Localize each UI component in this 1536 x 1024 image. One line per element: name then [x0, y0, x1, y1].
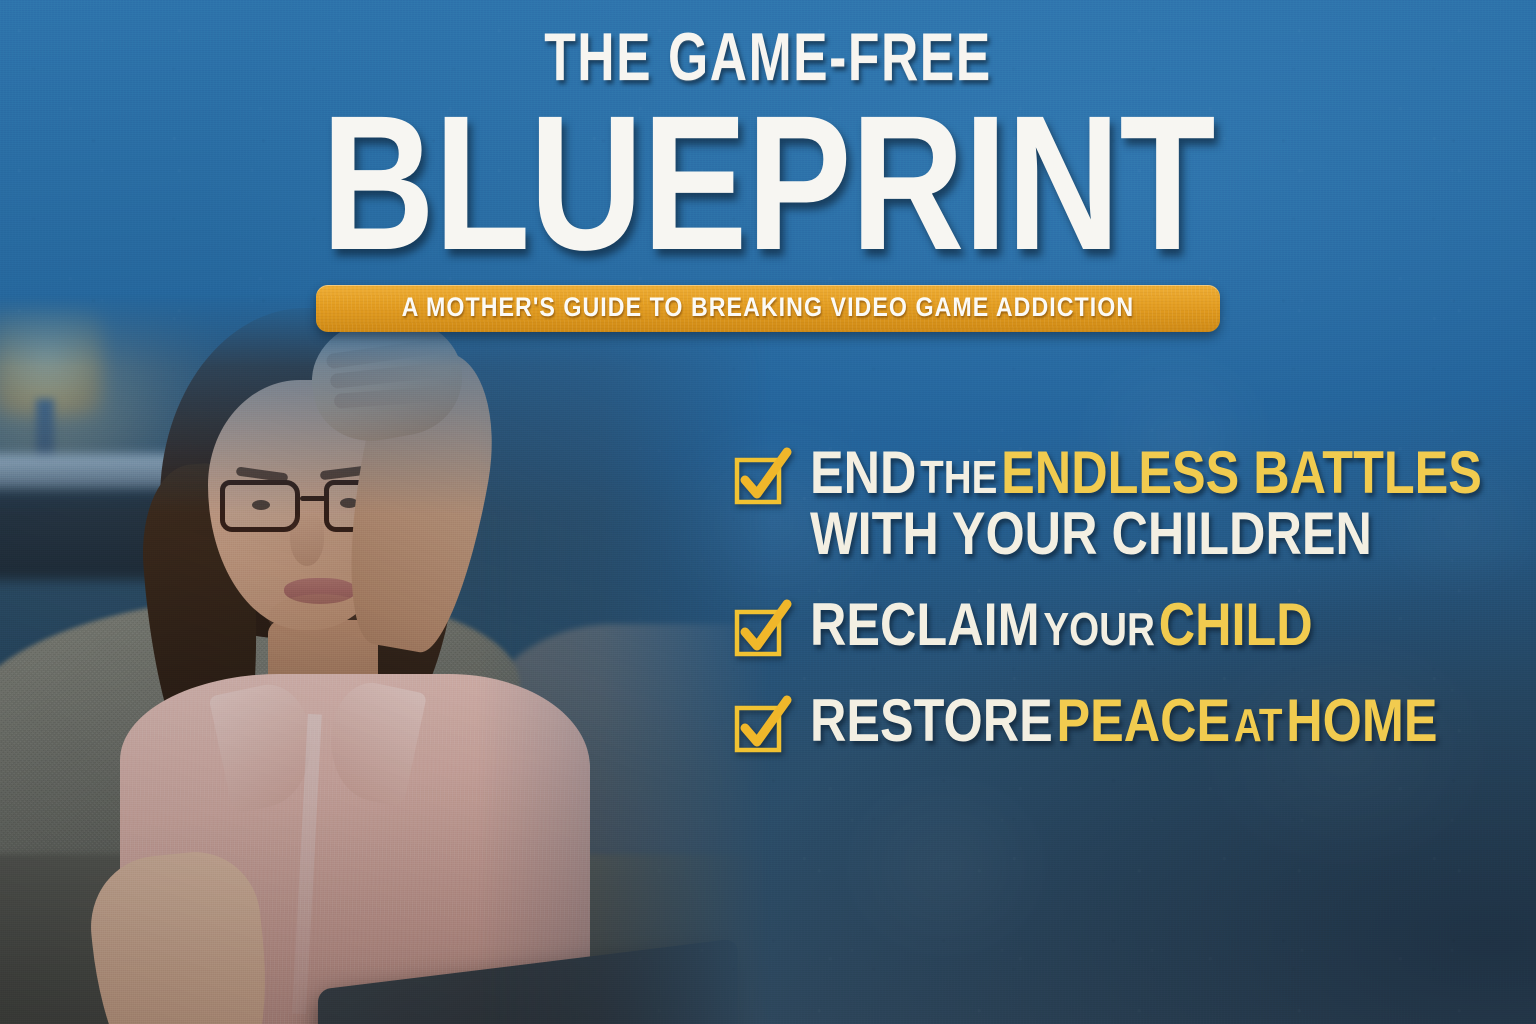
bullet-2-word-3: CHILD [1159, 591, 1313, 658]
bullet-1-word-1: END [810, 439, 916, 506]
bullet-1-word-3: ENDLESS BATTLES [1001, 439, 1482, 506]
bullet-2-word-2: YOUR [1043, 603, 1155, 655]
bullet-1-word-2: THE [920, 451, 997, 503]
headline-block: THE GAME-FREE BLUEPRINT A MOTHER'S GUIDE… [0, 0, 1536, 332]
photo-grain [0, 294, 770, 1024]
page-title: BLUEPRINT [138, 97, 1398, 270]
benefit-list: END THE ENDLESS BATTLES WITH YOUR CHILDR… [734, 444, 1494, 754]
list-item: END THE ENDLESS BATTLES WITH YOUR CHILDR… [734, 444, 1494, 562]
list-item-text: RECLAIM YOUR CHILD [810, 596, 1313, 653]
bullet-3-word-3: AT [1234, 699, 1283, 751]
bullet-3-word-1: RESTORE [810, 687, 1053, 754]
list-item: RECLAIM YOUR CHILD [734, 596, 1494, 658]
bullet-3-word-2: PEACE [1056, 687, 1230, 754]
stressed-mother-photo [0, 294, 770, 1024]
subtitle-banner: A MOTHER'S GUIDE TO BREAKING VIDEO GAME … [316, 285, 1220, 332]
checkbox-checked-icon [734, 700, 788, 754]
poster-canvas: THE GAME-FREE BLUEPRINT A MOTHER'S GUIDE… [0, 0, 1536, 1024]
checkbox-checked-icon [734, 604, 788, 658]
list-item-text: END THE ENDLESS BATTLES WITH YOUR CHILDR… [810, 444, 1482, 562]
bullet-3-word-4: HOME [1286, 687, 1437, 754]
bullet-2-word-1: RECLAIM [810, 591, 1040, 658]
list-item-text: RESTORE PEACE AT HOME [810, 692, 1437, 749]
subtitle-banner-wrap: A MOTHER'S GUIDE TO BREAKING VIDEO GAME … [0, 285, 1536, 332]
list-item: RESTORE PEACE AT HOME [734, 692, 1494, 754]
checkbox-checked-icon [734, 452, 788, 506]
bullet-1-line-2: WITH YOUR CHILDREN [810, 505, 1482, 562]
subtitle-banner-text: A MOTHER'S GUIDE TO BREAKING VIDEO GAME … [402, 292, 1135, 323]
